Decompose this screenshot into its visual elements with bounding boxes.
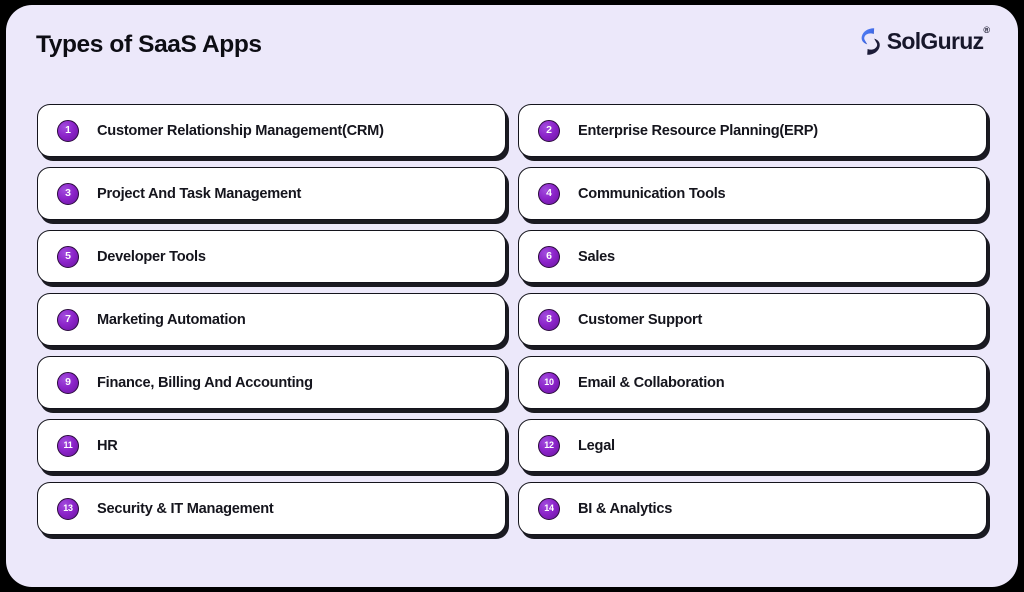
- item-number-badge: 10: [538, 372, 560, 394]
- item-number-badge: 7: [57, 309, 79, 331]
- saas-type-card-grid: 1 Customer Relationship Management(CRM) …: [37, 104, 987, 535]
- item-number-badge: 6: [538, 246, 560, 268]
- list-item-label: HR: [97, 438, 118, 454]
- list-item[interactable]: 3 Project And Task Management: [37, 167, 506, 220]
- item-number-badge: 13: [57, 498, 79, 520]
- list-item[interactable]: 9 Finance, Billing And Accounting: [37, 356, 506, 409]
- item-number-badge: 14: [538, 498, 560, 520]
- list-item[interactable]: 7 Marketing Automation: [37, 293, 506, 346]
- header: Types of SaaS Apps SolGuruz®: [6, 5, 1018, 93]
- list-item-label: Sales: [578, 249, 615, 265]
- brand-logo: SolGuruz®: [857, 27, 990, 56]
- list-item[interactable]: 2 Enterprise Resource Planning(ERP): [518, 104, 987, 157]
- list-item-label: Security & IT Management: [97, 501, 273, 517]
- screenshot-root: Types of SaaS Apps SolGuruz®: [0, 0, 1024, 592]
- list-item-label: Customer Support: [578, 312, 702, 328]
- list-item[interactable]: 5 Developer Tools: [37, 230, 506, 283]
- list-item[interactable]: 10 Email & Collaboration: [518, 356, 987, 409]
- item-number-badge: 1: [57, 120, 79, 142]
- list-item[interactable]: 4 Communication Tools: [518, 167, 987, 220]
- brand-wordmark-text: SolGuruz: [887, 28, 984, 54]
- page-title: Types of SaaS Apps: [36, 31, 262, 59]
- infographic-panel: Types of SaaS Apps SolGuruz®: [6, 5, 1018, 587]
- list-item[interactable]: 13 Security & IT Management: [37, 482, 506, 535]
- item-number-badge: 2: [538, 120, 560, 142]
- list-item[interactable]: 14 BI & Analytics: [518, 482, 987, 535]
- list-item-label: Communication Tools: [578, 186, 725, 202]
- list-item[interactable]: 8 Customer Support: [518, 293, 987, 346]
- list-item[interactable]: 6 Sales: [518, 230, 987, 283]
- list-item-label: Project And Task Management: [97, 186, 301, 202]
- item-number-badge: 8: [538, 309, 560, 331]
- list-item[interactable]: 12 Legal: [518, 419, 987, 472]
- list-item-label: Finance, Billing And Accounting: [97, 375, 313, 391]
- list-item-label: BI & Analytics: [578, 501, 672, 517]
- list-item-label: Enterprise Resource Planning(ERP): [578, 123, 818, 139]
- item-number-badge: 3: [57, 183, 79, 205]
- list-item[interactable]: 1 Customer Relationship Management(CRM): [37, 104, 506, 157]
- item-number-badge: 12: [538, 435, 560, 457]
- registered-trademark-icon: ®: [983, 25, 990, 35]
- item-number-badge: 4: [538, 183, 560, 205]
- solguruz-bolt-icon: [857, 27, 884, 56]
- item-number-badge: 9: [57, 372, 79, 394]
- item-number-badge: 5: [57, 246, 79, 268]
- list-item-label: Email & Collaboration: [578, 375, 724, 391]
- brand-wordmark: SolGuruz®: [887, 30, 990, 53]
- list-item[interactable]: 11 HR: [37, 419, 506, 472]
- list-item-label: Developer Tools: [97, 249, 206, 265]
- list-item-label: Legal: [578, 438, 615, 454]
- item-number-badge: 11: [57, 435, 79, 457]
- list-item-label: Marketing Automation: [97, 312, 246, 328]
- list-item-label: Customer Relationship Management(CRM): [97, 123, 384, 139]
